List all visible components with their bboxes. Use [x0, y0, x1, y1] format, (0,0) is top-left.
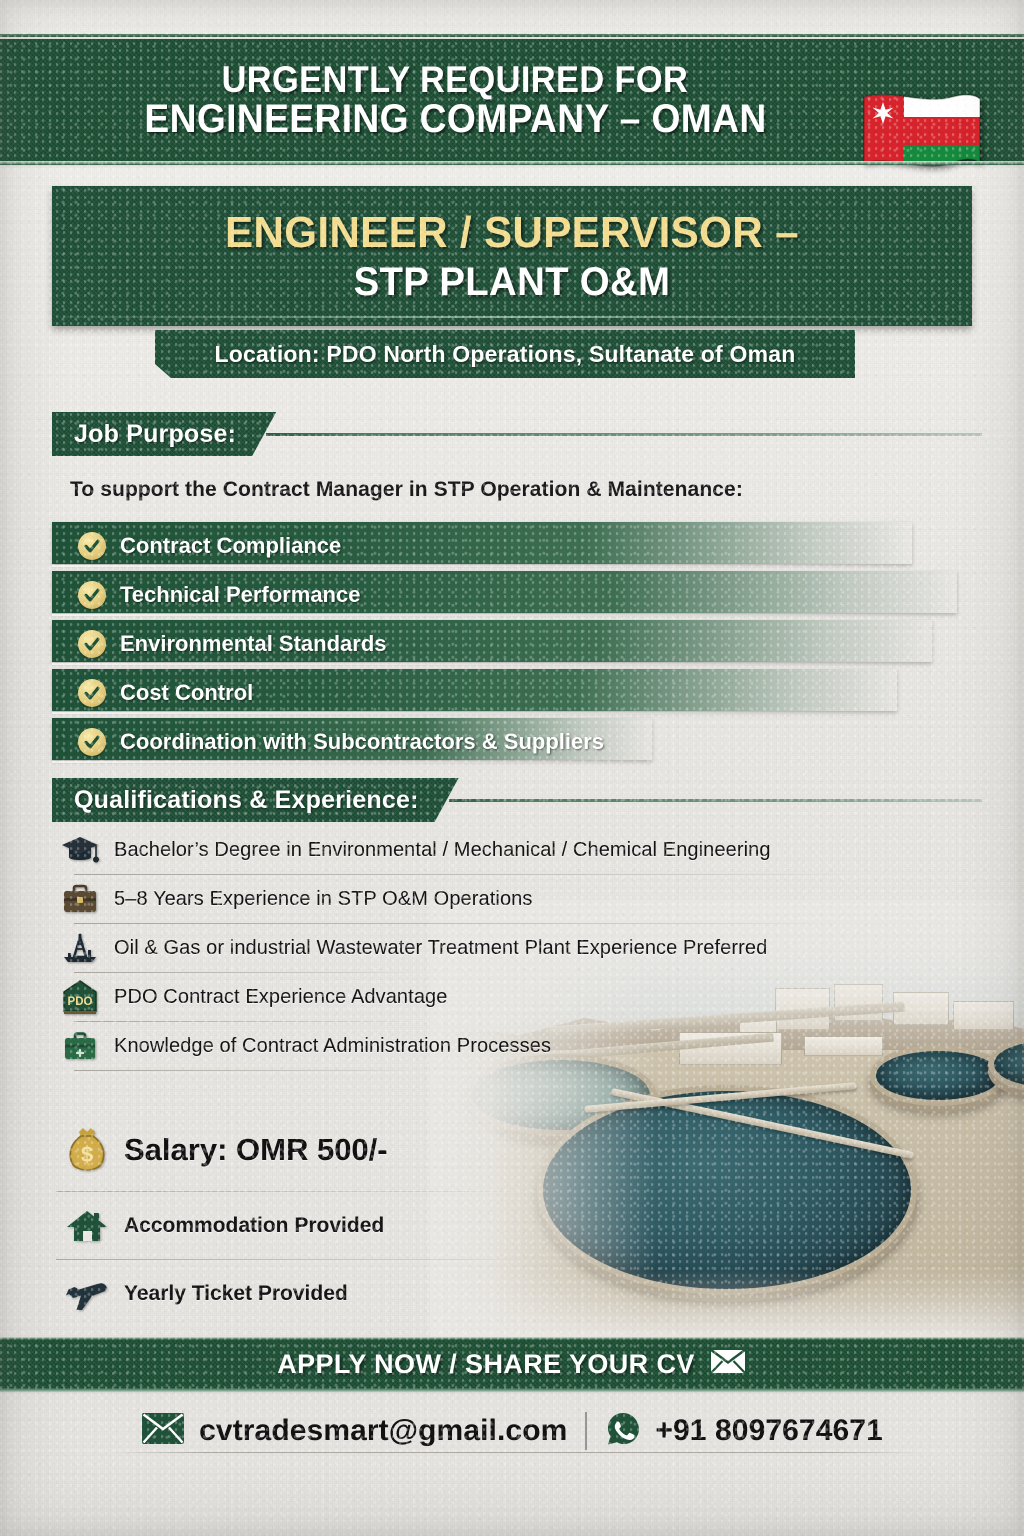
apply-band-bottom-rule — [0, 1388, 1024, 1392]
check-icon — [78, 630, 106, 658]
pdo-logo-icon: PDO — [56, 980, 104, 1016]
list-item-label: 5–8 Years Experience in STP O&M Operatio… — [114, 888, 533, 911]
qualifications-section-header: Qualifications & Experience: — [52, 778, 982, 822]
footer-rule — [110, 1452, 920, 1453]
header-title: URGENTLY REQUIRED FOR ENGINEERING COMPAN… — [60, 45, 850, 157]
list-item-label: Bachelor’s Degree in Environmental / Mec… — [114, 839, 771, 862]
list-item: Accommodation Provided — [56, 1192, 526, 1260]
money-bag-icon: $ — [56, 1125, 118, 1175]
list-item: Environmental Standards — [52, 620, 982, 668]
header-top-rule — [0, 34, 1024, 37]
graduation-cap-icon — [56, 834, 104, 868]
list-item: 5–8 Years Experience in STP O&M Operatio… — [56, 875, 936, 924]
list-item: Coordination with Subcontractors & Suppl… — [52, 718, 982, 766]
qualifications-heading: Qualifications & Experience: — [52, 778, 459, 822]
envelope-icon — [709, 1348, 747, 1380]
svg-text:$: $ — [81, 1142, 93, 1167]
check-icon — [78, 679, 106, 707]
list-item: PDO PDO Contract Experience Advantage — [56, 973, 936, 1022]
contact-phone[interactable]: +91 8097674671 — [655, 1414, 882, 1448]
section-rule — [266, 433, 982, 436]
airplane-icon — [56, 1275, 118, 1313]
contact-email[interactable]: cvtradesmart@gmail.com — [199, 1414, 567, 1448]
list-item-label: Salary: OMR 500/- — [124, 1132, 388, 1168]
list-item-label: Cost Control — [120, 680, 253, 706]
svg-text:PDO: PDO — [68, 996, 93, 1008]
list-item-label: Yearly Ticket Provided — [124, 1282, 348, 1306]
list-item-label: PDO Contract Experience Advantage — [114, 986, 448, 1009]
check-icon — [78, 728, 106, 756]
apply-now-banner: APPLY NOW / SHARE YOUR CV — [0, 1340, 1024, 1388]
list-item: Knowledge of Contract Administration Pro… — [56, 1022, 936, 1071]
list-item-label: Environmental Standards — [120, 631, 387, 657]
job-purpose-list: Contract Compliance Technical Performanc… — [52, 522, 982, 767]
check-icon — [78, 581, 106, 609]
list-item: $ Salary: OMR 500/- — [56, 1108, 526, 1192]
list-item-label: Accommodation Provided — [124, 1214, 384, 1238]
job-title-panel: ENGINEER / SUPERVISOR – STP PLANT O&M — [52, 186, 972, 326]
list-item: Technical Performance — [52, 571, 982, 619]
briefcase-icon — [56, 884, 104, 916]
list-item-label: Contract Compliance — [120, 533, 341, 559]
qualifications-list: Bachelor’s Degree in Environmental / Mec… — [56, 826, 936, 1071]
job-title-line-1: ENGINEER / SUPERVISOR – — [225, 208, 799, 258]
benefits-list: $ Salary: OMR 500/- Accommodation Provid… — [56, 1108, 526, 1328]
header-banner: URGENTLY REQUIRED FOR ENGINEERING COMPAN… — [0, 39, 1024, 161]
list-item: Yearly Ticket Provided — [56, 1260, 526, 1328]
check-icon — [78, 532, 106, 560]
apply-now-label: APPLY NOW / SHARE YOUR CV — [277, 1349, 695, 1380]
list-item: Cost Control — [52, 669, 982, 717]
section-rule — [449, 799, 982, 802]
whatsapp-icon — [605, 1411, 641, 1452]
location-text: Location: PDO North Operations, Sultanat… — [214, 341, 795, 368]
header-bottom-rule — [0, 161, 1024, 165]
job-title-line-2: STP PLANT O&M — [354, 260, 671, 305]
job-purpose-heading: Job Purpose: — [52, 412, 276, 456]
job-purpose-intro: To support the Contract Manager in STP O… — [70, 478, 743, 502]
list-item-label: Oil & Gas or industrial Wastewater Treat… — [114, 937, 767, 960]
job-poster: URGENTLY REQUIRED FOR ENGINEERING COMPAN… — [0, 0, 1024, 1536]
list-item: Contract Compliance — [52, 522, 982, 570]
header-line-1: URGENTLY REQUIRED FOR — [222, 61, 689, 99]
list-item: Bachelor’s Degree in Environmental / Mec… — [56, 826, 936, 875]
house-icon — [56, 1207, 118, 1245]
job-purpose-section-header: Job Purpose: — [52, 412, 982, 456]
envelope-icon — [141, 1412, 185, 1450]
toolbox-icon — [56, 1031, 104, 1063]
contact-divider — [585, 1412, 587, 1450]
list-item-label: Knowledge of Contract Administration Pro… — [114, 1035, 551, 1058]
list-item-label: Technical Performance — [120, 582, 360, 608]
list-item-label: Coordination with Subcontractors & Suppl… — [120, 729, 604, 755]
contact-bar: cvtradesmart@gmail.com +91 8097674671 — [0, 1398, 1024, 1464]
list-item: Oil & Gas or industrial Wastewater Treat… — [56, 924, 936, 973]
header-line-2: ENGINEERING COMPANY – OMAN — [144, 99, 766, 141]
location-ribbon: Location: PDO North Operations, Sultanat… — [155, 330, 855, 378]
oil-rig-icon — [56, 933, 104, 965]
